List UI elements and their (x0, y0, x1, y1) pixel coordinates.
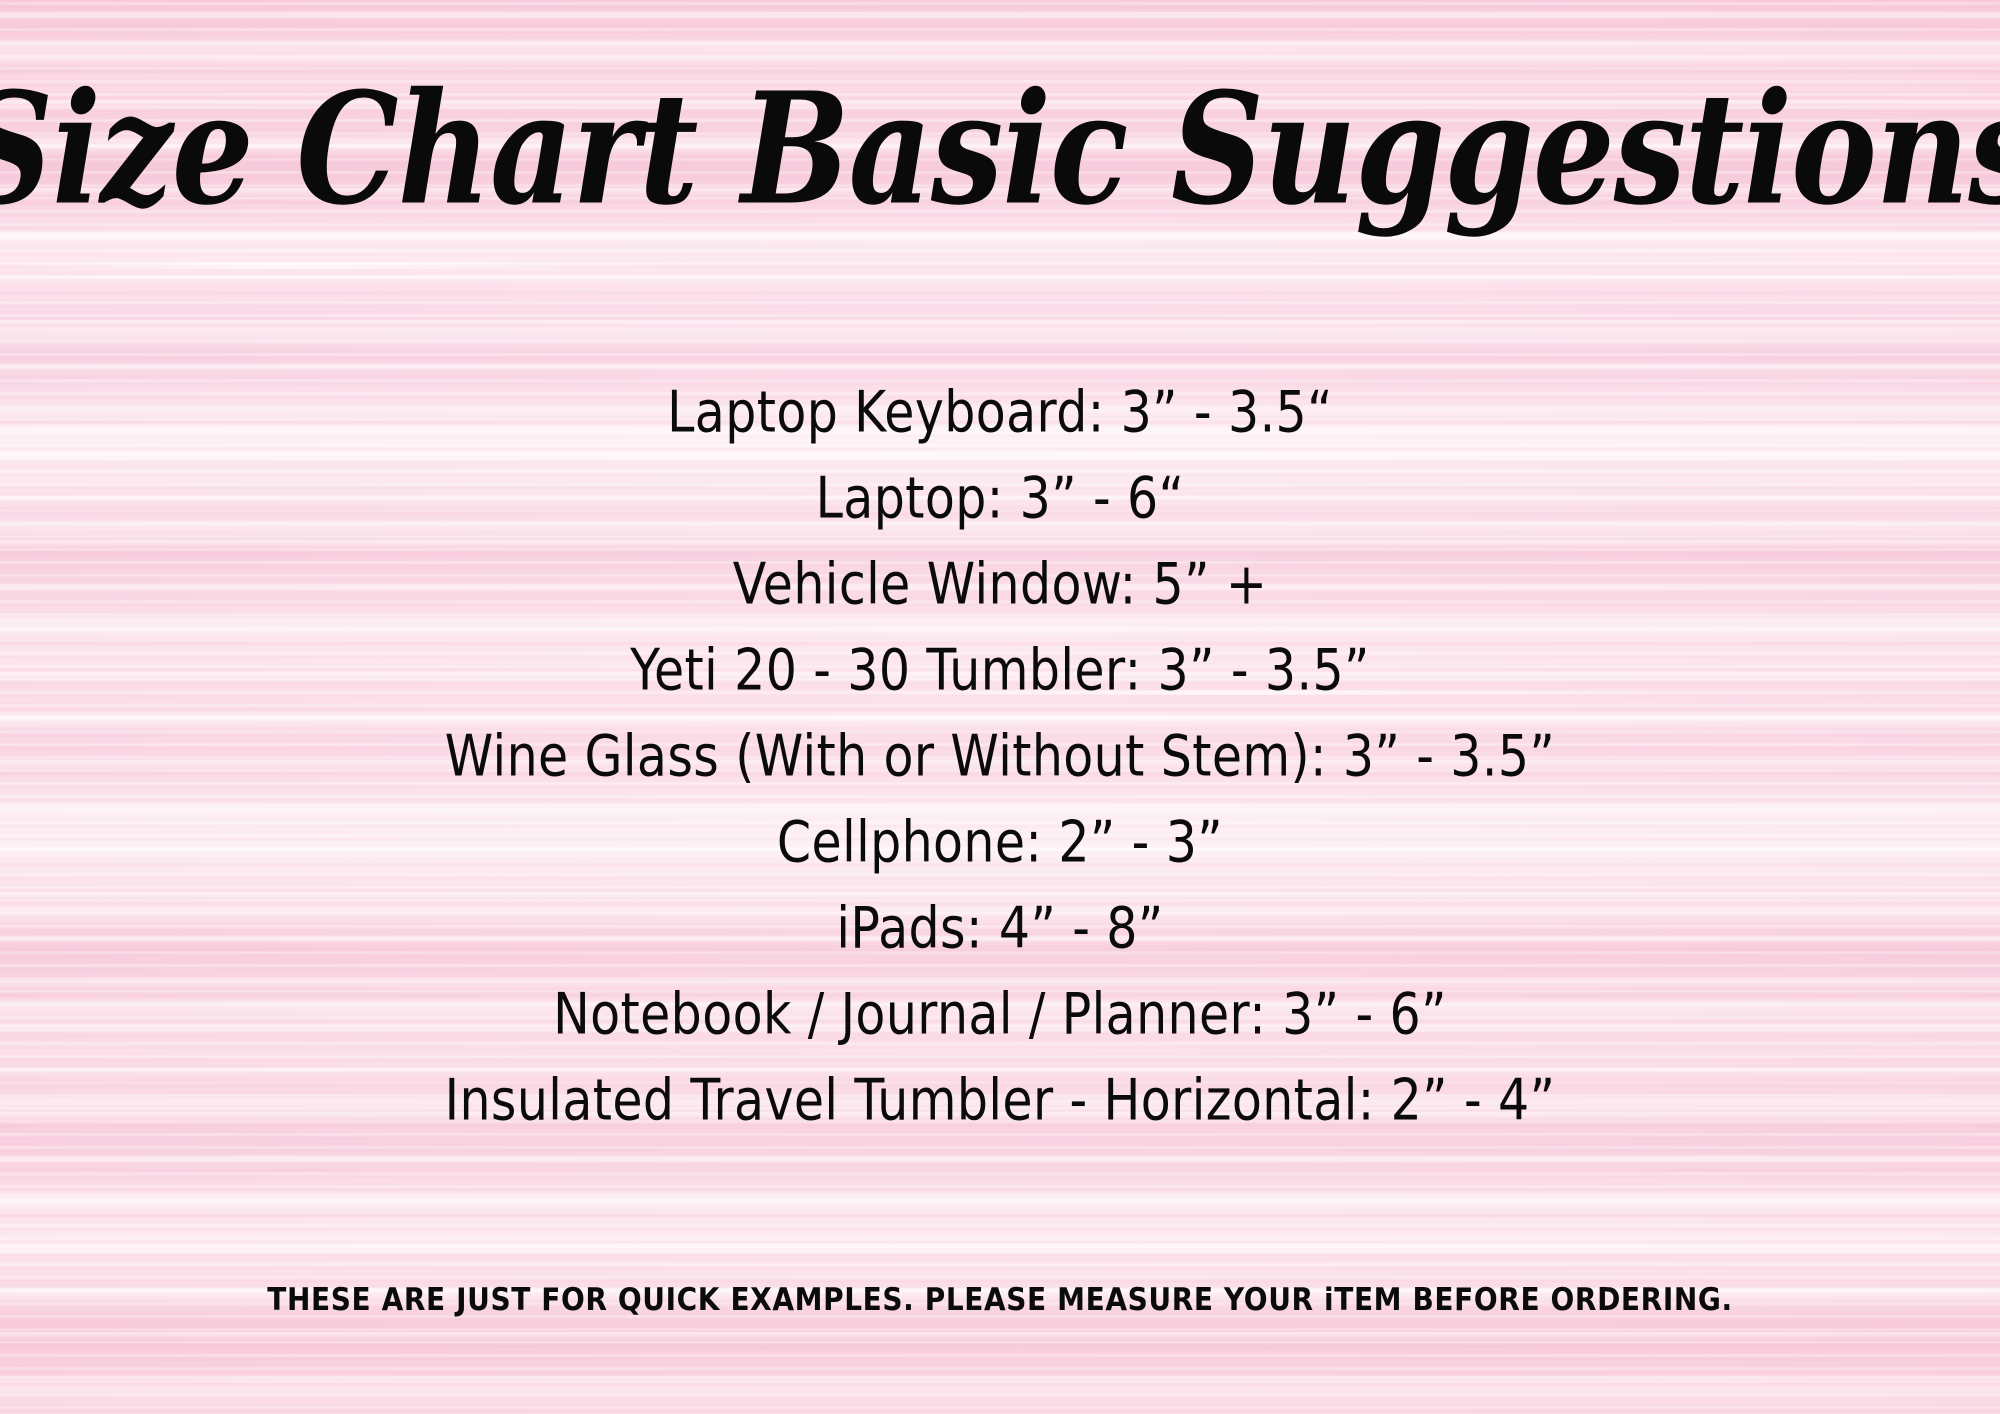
list-item: Laptop: 3” - 6“ (0, 449, 2000, 549)
list-item: Vehicle Window: 5” + (0, 535, 2000, 635)
size-chart-poster: Size Chart Basic Suggestions Laptop Keyb… (0, 0, 2000, 1414)
footer-disclaimer: THESE ARE JUST FOR QUICK EXAMPLES. PLEAS… (0, 1284, 2000, 1315)
list-item: iPads: 4” - 8” (0, 879, 2000, 979)
list-item: Wine Glass (With or Without Stem): 3” - … (0, 707, 2000, 807)
page-title: Size Chart Basic Suggestions (0, 72, 2000, 226)
list-item: Notebook / Journal / Planner: 3” - 6” (0, 965, 2000, 1065)
list-item: Yeti 20 - 30 Tumbler: 3” - 3.5” (0, 621, 2000, 721)
list-item: Laptop Keyboard: 3” - 3.5“ (0, 363, 2000, 463)
size-suggestion-list: Laptop Keyboard: 3” - 3.5“ Laptop: 3” - … (0, 370, 2000, 1144)
list-item: Cellphone: 2” - 3” (0, 793, 2000, 893)
list-item: Insulated Travel Tumbler - Horizontal: 2… (0, 1051, 2000, 1151)
poster-content: Size Chart Basic Suggestions Laptop Keyb… (0, 0, 2000, 1414)
